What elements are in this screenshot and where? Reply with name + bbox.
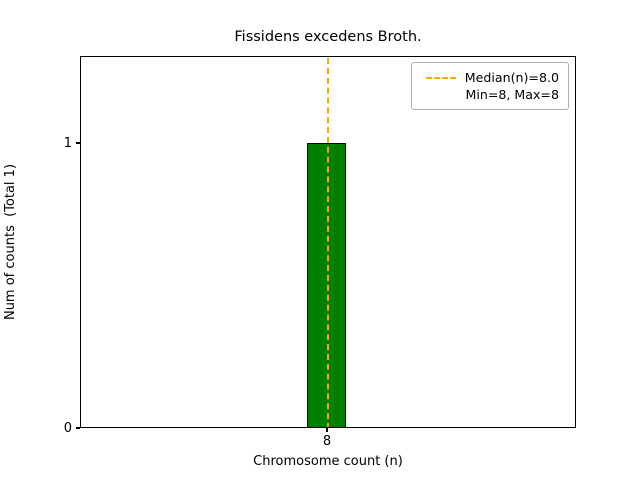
chart-figure: Fissidens excedens Broth. 0 1 8 Chromoso… bbox=[0, 0, 640, 480]
legend-item-minmax: Min=8, Max=8 bbox=[421, 86, 559, 103]
plot-area bbox=[80, 56, 576, 428]
legend-item-median: Median(n)=8.0 bbox=[421, 69, 559, 86]
ytick-label-1: 1 bbox=[64, 137, 72, 150]
x-axis-label: Chromosome count (n) bbox=[80, 454, 576, 469]
ytick-mark-1 bbox=[76, 142, 80, 143]
ytick-mark-0 bbox=[76, 427, 80, 428]
y-axis-label-wrap: Num of counts (Total 1) bbox=[0, 56, 22, 428]
legend-label-minmax: Min=8, Max=8 bbox=[465, 86, 559, 103]
page-title: Fissidens excedens Broth. bbox=[80, 28, 576, 46]
xtick-mark-8 bbox=[326, 428, 327, 432]
xtick-label-8: 8 bbox=[323, 435, 331, 449]
legend: Median(n)=8.0 Min=8, Max=8 bbox=[411, 62, 569, 110]
y-axis-label: Num of counts (Total 1) bbox=[0, 56, 22, 428]
legend-label-median: Median(n)=8.0 bbox=[465, 69, 559, 86]
dashed-line-icon bbox=[426, 77, 456, 79]
median-line bbox=[327, 58, 329, 428]
ytick-label-0: 0 bbox=[64, 422, 72, 435]
